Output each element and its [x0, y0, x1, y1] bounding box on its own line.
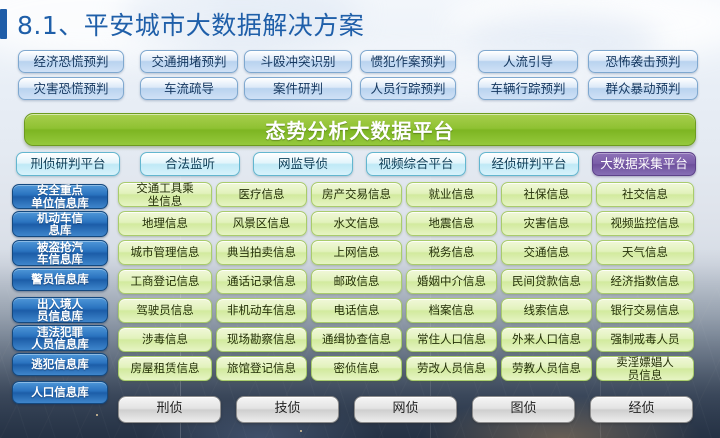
info-cell-r3-c1[interactable]: 通话记录信息 — [216, 269, 307, 294]
info-cell-r0-c2[interactable]: 房产交易信息 — [311, 182, 402, 207]
info-cell-r4-c4[interactable]: 线索信息 — [501, 298, 592, 323]
platform-banner: 态势分析大数据平台 — [24, 113, 696, 146]
info-cell-r2-c3[interactable]: 税务信息 — [406, 240, 497, 265]
prediction-button-row1-5[interactable]: 恐怖袭击预判 — [588, 50, 698, 73]
prediction-button-row1-1[interactable]: 交通拥堵预判 — [140, 50, 238, 73]
database-button-3[interactable]: 警员信息库 — [12, 268, 108, 291]
prediction-button-row2-3[interactable]: 人员行踪预判 — [360, 77, 456, 100]
info-cell-r3-c4[interactable]: 民间贷款信息 — [501, 269, 592, 294]
info-cell-r0-c3[interactable]: 就业信息 — [406, 182, 497, 207]
info-cell-r1-c0[interactable]: 地理信息 — [118, 211, 212, 236]
info-cell-r0-c4[interactable]: 社保信息 — [501, 182, 592, 207]
info-cell-r2-c0[interactable]: 城市管理信息 — [118, 240, 212, 265]
info-cell-r3-c5[interactable]: 经济指数信息 — [596, 269, 694, 294]
info-cell-r5-c2[interactable]: 通缉协查信息 — [311, 327, 402, 352]
info-cell-r1-c5[interactable]: 视频监控信息 — [596, 211, 694, 236]
prediction-button-row2-0[interactable]: 灾害恐慌预判 — [18, 77, 124, 100]
prediction-button-row2-5[interactable]: 群众暴动预判 — [588, 77, 698, 100]
prediction-button-row2-2[interactable]: 案件研判 — [244, 77, 352, 100]
platform-button-3[interactable]: 视频综合平台 — [366, 152, 466, 176]
platform-button-4[interactable]: 经侦研判平台 — [479, 152, 579, 176]
info-cell-r2-c1[interactable]: 典当拍卖信息 — [216, 240, 307, 265]
info-cell-r4-c5[interactable]: 银行交易信息 — [596, 298, 694, 323]
info-cell-r6-c1[interactable]: 旅馆登记信息 — [216, 356, 307, 381]
info-cell-r1-c3[interactable]: 地震信息 — [406, 211, 497, 236]
info-cell-r5-c1[interactable]: 现场勘察信息 — [216, 327, 307, 352]
info-cell-r5-c3[interactable]: 常住人口信息 — [406, 327, 497, 352]
prediction-button-row2-1[interactable]: 车流疏导 — [140, 77, 238, 100]
database-button-0[interactable]: 安全重点 单位信息库 — [12, 184, 108, 209]
info-cell-r6-c5[interactable]: 卖淫嫖娼人 员信息 — [596, 356, 694, 381]
platform-button-2[interactable]: 网监导侦 — [253, 152, 353, 176]
database-button-7[interactable]: 人口信息库 — [12, 381, 108, 404]
prediction-button-row2-4[interactable]: 车辆行踪预判 — [478, 77, 578, 100]
database-button-2[interactable]: 被盗抢汽 车信息库 — [12, 240, 108, 266]
info-cell-r0-c5[interactable]: 社交信息 — [596, 182, 694, 207]
info-cell-r0-c1[interactable]: 医疗信息 — [216, 182, 307, 207]
info-cell-r2-c5[interactable]: 天气信息 — [596, 240, 694, 265]
prediction-button-row1-0[interactable]: 经济恐慌预判 — [18, 50, 124, 73]
platform-button-0[interactable]: 刑侦研判平台 — [16, 152, 120, 176]
city-light-dot — [96, 414, 98, 416]
prediction-button-row1-2[interactable]: 斗殴冲突识别 — [244, 50, 352, 73]
page-title-text: 8.1、平安城市大数据解决方案 — [17, 6, 364, 42]
page-title: 8.1、平安城市大数据解决方案 — [0, 6, 364, 42]
database-button-6[interactable]: 逃犯信息库 — [12, 353, 108, 376]
prediction-button-row1-3[interactable]: 惯犯作案预判 — [360, 50, 456, 73]
info-cell-r1-c4[interactable]: 灾害信息 — [501, 211, 592, 236]
footer-button-2[interactable]: 网侦 — [354, 396, 457, 423]
info-cell-r6-c0[interactable]: 房屋租赁信息 — [118, 356, 212, 381]
prediction-button-row1-4[interactable]: 人流引导 — [478, 50, 578, 73]
info-cell-r3-c0[interactable]: 工商登记信息 — [118, 269, 212, 294]
info-cell-r1-c1[interactable]: 风景区信息 — [216, 211, 307, 236]
database-button-1[interactable]: 机动车信 息库 — [12, 211, 108, 237]
info-cell-r2-c2[interactable]: 上网信息 — [311, 240, 402, 265]
footer-button-0[interactable]: 刑侦 — [118, 396, 221, 423]
info-cell-r4-c0[interactable]: 驾驶员信息 — [118, 298, 212, 323]
footer-button-1[interactable]: 技侦 — [236, 396, 339, 423]
info-cell-r3-c3[interactable]: 婚姻中介信息 — [406, 269, 497, 294]
info-cell-r4-c3[interactable]: 档案信息 — [406, 298, 497, 323]
footer-button-3[interactable]: 图侦 — [472, 396, 575, 423]
info-cell-r6-c2[interactable]: 密侦信息 — [311, 356, 402, 381]
platform-button-5[interactable]: 大数据采集平台 — [592, 152, 696, 176]
info-cell-r4-c2[interactable]: 电话信息 — [311, 298, 402, 323]
info-cell-r0-c0[interactable]: 交通工具乘 坐信息 — [118, 182, 212, 207]
slide-canvas: 8.1、平安城市大数据解决方案 态势分析大数据平台 经济恐慌预判交通拥堵预判斗殴… — [0, 0, 720, 438]
info-cell-r5-c4[interactable]: 外来人口信息 — [501, 327, 592, 352]
info-cell-r2-c4[interactable]: 交通信息 — [501, 240, 592, 265]
footer-button-4[interactable]: 经侦 — [590, 396, 693, 423]
city-light-dot — [300, 430, 302, 432]
info-cell-r6-c4[interactable]: 劳教人员信息 — [501, 356, 592, 381]
database-button-4[interactable]: 出入境人 员信息库 — [12, 297, 108, 323]
title-accent-bar — [0, 9, 7, 39]
info-cell-r1-c2[interactable]: 水文信息 — [311, 211, 402, 236]
platform-button-1[interactable]: 合法监听 — [140, 152, 240, 176]
info-cell-r6-c3[interactable]: 劳改人员信息 — [406, 356, 497, 381]
info-cell-r3-c2[interactable]: 邮政信息 — [311, 269, 402, 294]
database-button-5[interactable]: 违法犯罪 人员信息库 — [12, 325, 108, 351]
info-cell-r4-c1[interactable]: 非机动车信息 — [216, 298, 307, 323]
info-cell-r5-c0[interactable]: 涉毒信息 — [118, 327, 212, 352]
info-cell-r5-c5[interactable]: 强制戒毒人员 — [596, 327, 694, 352]
